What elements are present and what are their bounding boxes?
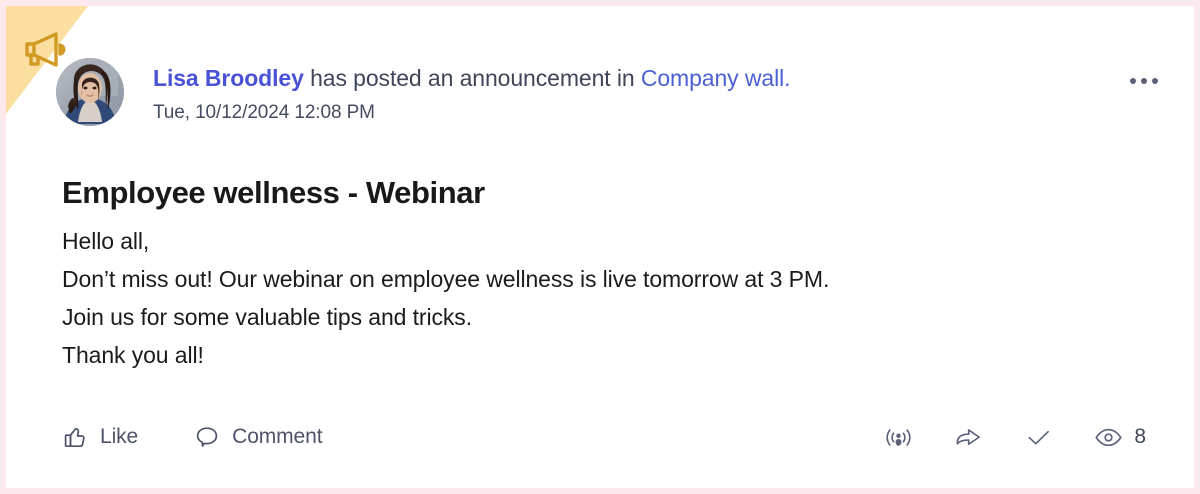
ellipsis-icon-dot-1 [1130, 78, 1136, 84]
check-icon [1025, 424, 1052, 451]
eye-icon [1094, 426, 1123, 449]
mark-read-button[interactable] [1025, 424, 1052, 451]
footer-actions-right: 8 [843, 424, 1146, 451]
post-header: Lisa Broodley has posted an announcement… [56, 58, 1164, 126]
announcement-post-card: Lisa Broodley has posted an announcement… [0, 0, 1200, 494]
post-header-text: Lisa Broodley has posted an announcement… [153, 58, 1124, 124]
wall-link[interactable]: Company wall [641, 65, 784, 91]
avatar[interactable] [56, 58, 124, 126]
more-options-button[interactable] [1124, 64, 1164, 98]
like-label: Like [100, 425, 138, 449]
ellipsis-icon-dot-2 [1141, 78, 1147, 84]
views-count: 8 [1134, 425, 1146, 449]
header-sentence-end: . [784, 65, 790, 91]
views-indicator[interactable]: 8 [1094, 425, 1146, 449]
ellipsis-icon-dot-3 [1152, 78, 1158, 84]
post-footer: Like Comment [62, 420, 1146, 454]
post-timestamp: Tue, 10/12/2024 12:08 PM [153, 102, 1124, 124]
thumbs-up-icon [62, 424, 88, 450]
post-line-2: Don’t miss out! Our webinar on employee … [62, 261, 1154, 299]
post-title: Employee wellness - Webinar [62, 174, 1154, 211]
speech-bubble-icon [194, 424, 220, 450]
post-line-1: Hello all, [62, 223, 1154, 261]
header-action-text: has posted an announcement in [304, 65, 641, 91]
share-button[interactable] [954, 424, 983, 451]
post-line-4: Thank you all! [62, 337, 1154, 375]
broadcast-icon [885, 424, 912, 451]
footer-actions-left: Like Comment [62, 424, 378, 450]
post-line-3: Join us for some valuable tips and trick… [62, 299, 1154, 337]
post-body: Employee wellness - Webinar Hello all, D… [62, 174, 1154, 375]
post-header-sentence: Lisa Broodley has posted an announcement… [153, 64, 1124, 93]
like-button[interactable]: Like [62, 424, 138, 450]
share-arrow-icon [954, 424, 983, 451]
broadcast-button[interactable] [885, 424, 912, 451]
comment-label: Comment [232, 425, 322, 449]
comment-button[interactable]: Comment [194, 424, 322, 450]
author-link[interactable]: Lisa Broodley [153, 65, 304, 91]
